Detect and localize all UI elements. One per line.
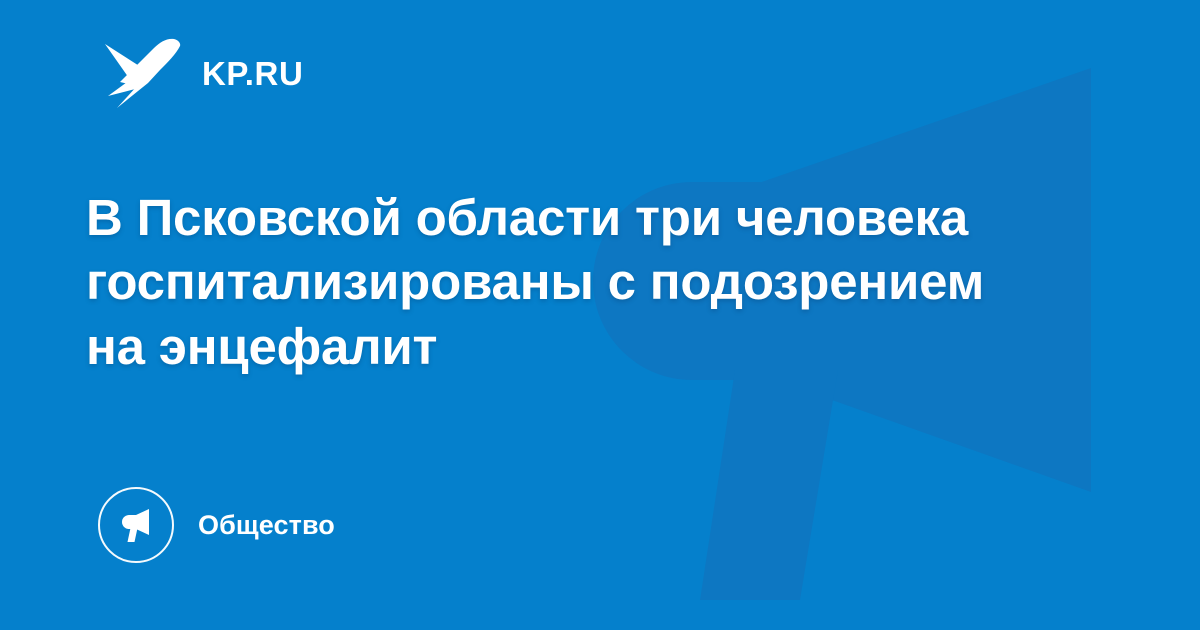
category-label: Общество [198, 512, 335, 539]
swallow-bird-icon [104, 36, 182, 110]
brand-name-label: KP.RU [202, 57, 303, 90]
kp-ru-share-card: KP.RU В Псковской области три человека г… [0, 0, 1200, 630]
megaphone-icon [98, 487, 174, 563]
page-title: В Псковской области три человека госпита… [86, 186, 1016, 379]
category-badge[interactable]: Общество [98, 487, 335, 563]
brand-logo[interactable]: KP.RU [104, 36, 303, 110]
